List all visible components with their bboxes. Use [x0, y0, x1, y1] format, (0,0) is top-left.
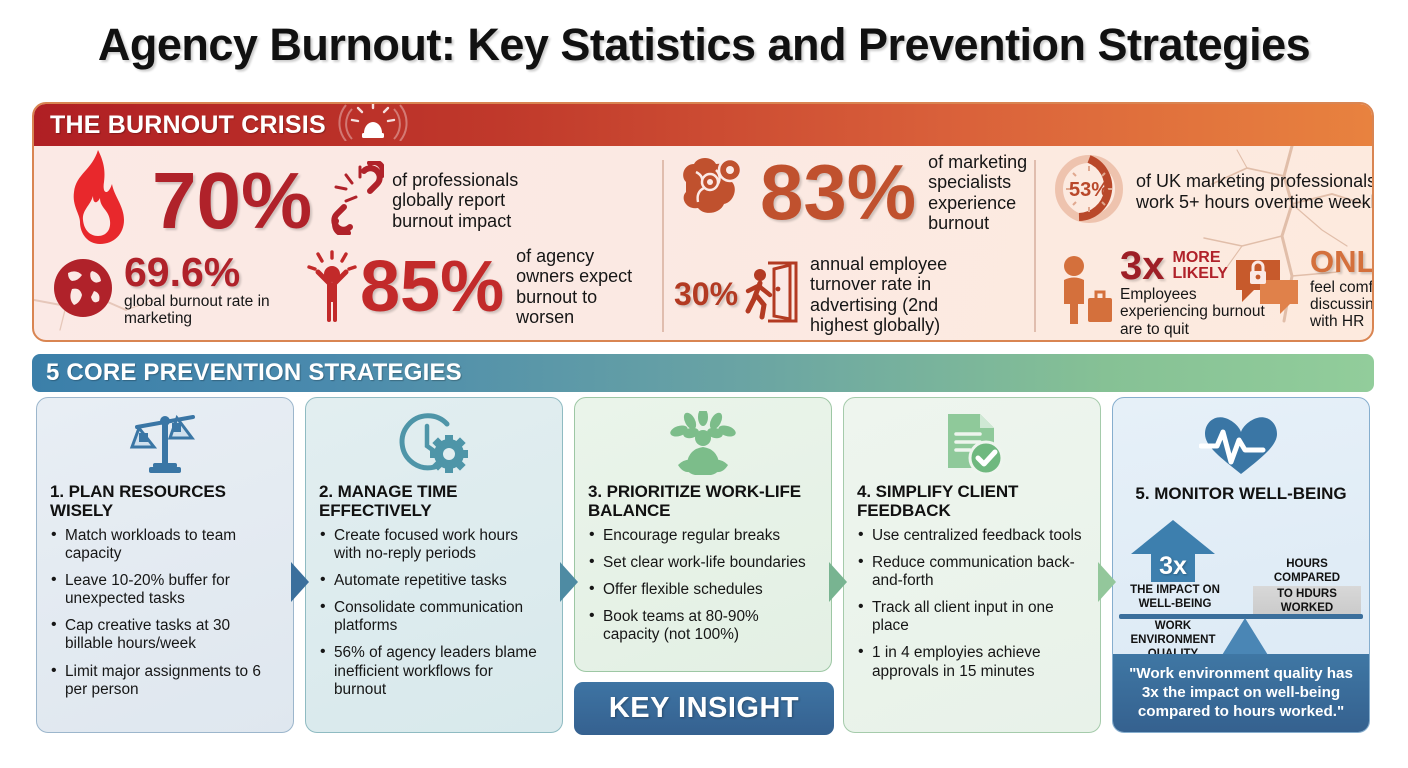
card-bullets: Match workloads to team capacity Leave 1… [50, 527, 280, 698]
balance-diagram: 3x THE IMPACT ON WELL-BEING HOURS COMPAR… [1113, 514, 1369, 634]
stat-3x-number: 3x [1120, 248, 1165, 285]
list-item: Use centralized feedback tools [857, 527, 1087, 545]
card-title: 1. PLAN RESOURCES WISELY [50, 482, 280, 520]
stat-696-text: global burnout rate in marketing [124, 293, 294, 328]
card-manage-time[interactable]: 2. MANAGE TIME EFFECTIVELY Create focuse… [305, 397, 563, 733]
list-item: Reduce communication back-and-forth [857, 554, 1087, 590]
list-item: Consolidate communication platforms [319, 599, 549, 635]
list-item: 56% of agency leaders blame inefficient … [319, 644, 549, 698]
card-title: 2. MANAGE TIME EFFECTIVELY [319, 482, 549, 520]
prevention-header-title: 5 CORE PREVENTION STRATEGIES [46, 359, 462, 387]
stressed-person-icon [306, 246, 358, 327]
key-insight-banner: KEY INSIGHT [574, 682, 834, 735]
card-bullets: Use centralized feedback tools Reduce co… [857, 527, 1087, 680]
stat-21-text: feel comfortable discussing burnout with… [1310, 279, 1374, 331]
stat-21-number: ONLY 21% [1310, 248, 1374, 277]
page-title: Agency Burnout: Key Statistics and Preve… [0, 0, 1408, 67]
list-item: Automate repetitive tasks [319, 572, 549, 590]
list-item: Create focused work hours with no-reply … [319, 527, 549, 563]
list-item: Book teams at 80-90% capacity (not 100%) [588, 608, 818, 644]
card-title: 3. PRIORITIZE WORK-LIFE BALANCE [588, 482, 818, 520]
list-item: Match workloads to team capacity [50, 527, 280, 563]
crisis-header-title: THE BURNOUT CRISIS [50, 111, 326, 140]
stat-85-percent: 85% of agency owners expect burnout to w… [306, 246, 638, 327]
stat-3x-emphasis: MORE LIKELY [1173, 250, 1237, 284]
list-item: Leave 10-20% buffer for unexpected tasks [50, 572, 280, 608]
list-item: Cap creative tasks at 30 billable hours/… [50, 617, 280, 653]
card-bullets: Encourage regular breaks Set clear work-… [588, 527, 818, 644]
prevention-header: 5 CORE PREVENTION STRATEGIES [32, 354, 1374, 392]
exit-door-run-icon [740, 259, 800, 330]
brain-gears-icon [674, 154, 756, 231]
list-item: 1 in 4 employies achieve approvals in 15… [857, 644, 1087, 680]
lock-chat-icon [1234, 256, 1300, 323]
siren-icon [338, 103, 408, 146]
meditation-icon [588, 408, 818, 482]
stat-83-number: 83% [760, 157, 916, 229]
stat-53-percent: 53% of UK marketing professionals work 5… [1052, 152, 1374, 231]
stat-83-text: of marketing specialists experience burn… [928, 152, 1054, 233]
scales-balance-icon [50, 408, 280, 482]
label-to-hours-worked: TO HDURS WORKED [1253, 586, 1361, 618]
stat-21-percent: ONLY 21% feel comfortable discussing bur… [1234, 248, 1374, 331]
stat-70-text: of professionals globally report burnout… [392, 170, 552, 231]
broken-chain-icon [324, 161, 384, 240]
connector-arrow-1-icon [291, 562, 309, 602]
card-work-life-balance[interactable]: 3. PRIORITIZE WORK-LIFE BALANCE Encourag… [574, 397, 832, 672]
arrow-3x-value: 3x [1131, 552, 1215, 581]
card-monitor-wellbeing[interactable]: 5. MONITOR WELL-BEING 3x THE IMPACT ON W… [1112, 397, 1370, 733]
connector-arrow-2-icon [560, 562, 578, 602]
document-check-icon [857, 408, 1087, 482]
label-impact-on-wellbeing: THE IMPACT ON WELL-BEING [1119, 584, 1231, 611]
stat-70-percent: 70% of professionals globally report bur [52, 148, 552, 253]
card-title: 4. SIMPLIFY CLIENT FEEDBACK [857, 482, 1087, 520]
list-item: Offer flexible schedules [588, 581, 818, 599]
stat-83-percent: 83% of marketing specialists experience … [674, 152, 1054, 233]
list-item: Set clear work-life boundaries [588, 554, 818, 572]
list-item: Encourage regular breaks [588, 527, 818, 545]
stat-30-number: 30% [674, 280, 738, 309]
connector-arrow-3-icon [829, 562, 847, 602]
stats-divider-1 [662, 160, 664, 332]
clock-gauge-icon: 53% [1052, 152, 1126, 231]
crisis-stats-body: 70% of professionals globally report bur [34, 146, 1372, 342]
stat-70-number: 70% [152, 164, 312, 238]
clock-gear-icon [319, 408, 549, 482]
card-simplify-feedback[interactable]: 4. SIMPLIFY CLIENT FEEDBACK Use centrali… [843, 397, 1101, 733]
flame-icon [52, 148, 138, 253]
svg-text:53%: 53% [1069, 179, 1109, 201]
label-hours-compared: HOURS COMPARED [1255, 558, 1359, 585]
list-item: Limit major assignments to 6 per person [50, 663, 280, 699]
stat-53-text: of UK marketing professionals work 5+ ho… [1136, 171, 1374, 212]
list-item: Track all client input in one place [857, 599, 1087, 635]
card-plan-resources[interactable]: 1. PLAN RESOURCES WISELY Match workloads… [36, 397, 294, 733]
stat-85-text: of agency owners expect burnout to worse… [516, 246, 638, 327]
connector-arrow-4-icon [1098, 562, 1116, 602]
wellbeing-quote: "Work environment quality has 3x the imp… [1113, 654, 1369, 732]
stat-696-number: 69.6% [124, 254, 294, 292]
globe-icon [52, 257, 114, 324]
stat-85-number: 85% [360, 254, 504, 320]
heart-pulse-icon [1113, 408, 1369, 482]
stat-30-text: annual employee turnover rate in adverti… [810, 254, 972, 335]
card-title: 5. MONITOR WELL-BEING [1113, 484, 1369, 504]
burnout-crisis-panel: THE BURNOUT CRISIS [32, 102, 1374, 342]
stat-30-percent: 30% annual employee turnover rate in adv… [674, 254, 972, 335]
crisis-header: THE BURNOUT CRISIS [34, 104, 1372, 146]
person-luggage-icon [1052, 254, 1114, 331]
card-bullets: Create focused work hours with no-reply … [319, 527, 549, 698]
stat-696-percent: 69.6% global burnout rate in marketing [52, 254, 294, 327]
